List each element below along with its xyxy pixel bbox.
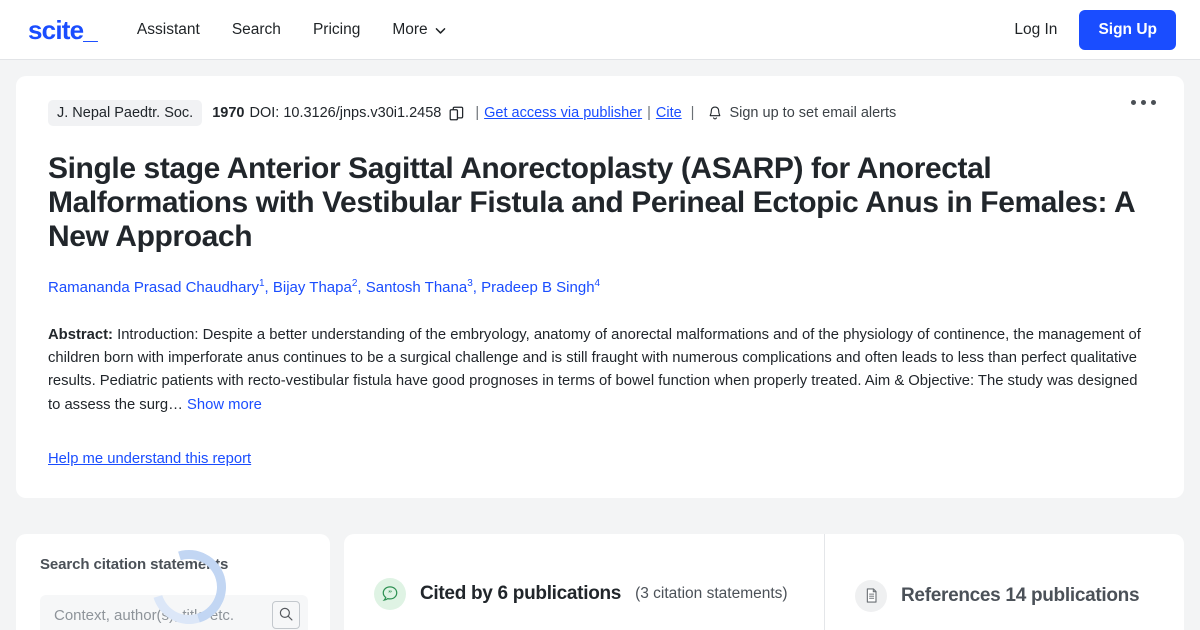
- signup-button[interactable]: Sign Up: [1079, 10, 1176, 50]
- citation-search-panel: Search citation statements: [16, 534, 330, 630]
- nav-item-label: More: [392, 21, 427, 39]
- more-options-icon[interactable]: [1125, 94, 1162, 111]
- svg-text:”: ”: [388, 589, 392, 598]
- get-access-link[interactable]: Get access via publisher: [484, 105, 642, 121]
- nav-item-label: Pricing: [313, 21, 360, 39]
- header-actions: Log In Sign Up: [1014, 10, 1176, 50]
- tab-references-label: References 14 publications: [901, 585, 1139, 607]
- tab-cited-by[interactable]: ” Cited by 6 publications (3 citation st…: [344, 534, 824, 630]
- site-header: scite_ Assistant Search Pricing More Log…: [0, 0, 1200, 60]
- meta-separator: |: [691, 105, 695, 121]
- search-input[interactable]: [54, 607, 266, 624]
- author-separator: ,: [473, 279, 481, 296]
- bell-icon[interactable]: [707, 105, 723, 122]
- citation-search-box[interactable]: [40, 595, 308, 630]
- meta-separator: |: [475, 105, 479, 121]
- search-icon: [278, 606, 294, 625]
- abstract-label: Abstract:: [48, 327, 113, 343]
- cite-link[interactable]: Cite: [656, 105, 682, 121]
- tab-cited-by-sub: (3 citation statements): [635, 585, 787, 603]
- nav-item-search[interactable]: Search: [232, 21, 281, 39]
- tab-references[interactable]: References 14 publications: [824, 534, 1184, 630]
- main-nav: Assistant Search Pricing More: [137, 21, 445, 39]
- nav-item-label: Search: [232, 21, 281, 39]
- bottom-section: Search citation statements ”: [0, 534, 1200, 630]
- copy-icon[interactable]: [448, 105, 465, 122]
- author-link[interactable]: Bijay Thapa2: [273, 279, 358, 296]
- nav-item-label: Assistant: [137, 21, 200, 39]
- quote-bubble-icon: ”: [374, 578, 406, 610]
- author-name: Pradeep B Singh: [481, 279, 594, 296]
- show-more-link[interactable]: Show more: [187, 397, 262, 413]
- meta-separator: |: [647, 105, 651, 121]
- email-alerts-text[interactable]: Sign up to set email alerts: [729, 105, 896, 121]
- doi-text: DOI: 10.3126/jnps.v30i1.2458: [249, 105, 441, 121]
- author-name: Bijay Thapa: [273, 279, 352, 296]
- page-title: Single stage Anterior Sagittal Anorectop…: [48, 152, 1152, 255]
- publication-tabs: ” Cited by 6 publications (3 citation st…: [344, 534, 1184, 630]
- chevron-down-icon: [434, 24, 445, 35]
- paper-meta-row: J. Nepal Paedtr. Soc. 1970 DOI: 10.3126/…: [48, 100, 1152, 126]
- author-affiliation-marker: 4: [595, 278, 601, 289]
- nav-item-pricing[interactable]: Pricing: [313, 21, 360, 39]
- authors-list: Ramananda Prasad Chaudhary1, Bijay Thapa…: [48, 277, 1152, 298]
- journal-badge: J. Nepal Paedtr. Soc.: [48, 100, 202, 126]
- help-understand-link[interactable]: Help me understand this report: [48, 451, 251, 467]
- author-link[interactable]: Pradeep B Singh4: [481, 279, 600, 296]
- author-name: Ramananda Prasad Chaudhary: [48, 279, 259, 296]
- citation-search-title: Search citation statements: [40, 556, 308, 573]
- scite-logo[interactable]: scite_: [28, 17, 97, 43]
- author-link[interactable]: Ramananda Prasad Chaudhary1: [48, 279, 265, 296]
- login-button[interactable]: Log In: [1014, 21, 1057, 39]
- document-icon: [855, 580, 887, 612]
- author-link[interactable]: Santosh Thana3: [366, 279, 473, 296]
- paper-card: J. Nepal Paedtr. Soc. 1970 DOI: 10.3126/…: [16, 76, 1184, 498]
- publication-year: 1970: [212, 105, 244, 121]
- tab-cited-by-label: Cited by 6 publications: [420, 583, 621, 605]
- nav-item-assistant[interactable]: Assistant: [137, 21, 200, 39]
- author-separator: ,: [357, 279, 365, 296]
- author-separator: ,: [265, 279, 273, 296]
- abstract-block: Abstract: Introduction: Despite a better…: [48, 324, 1152, 418]
- page-body: J. Nepal Paedtr. Soc. 1970 DOI: 10.3126/…: [0, 60, 1200, 514]
- author-name: Santosh Thana: [366, 279, 467, 296]
- search-button[interactable]: [272, 601, 300, 629]
- nav-item-more[interactable]: More: [392, 21, 444, 39]
